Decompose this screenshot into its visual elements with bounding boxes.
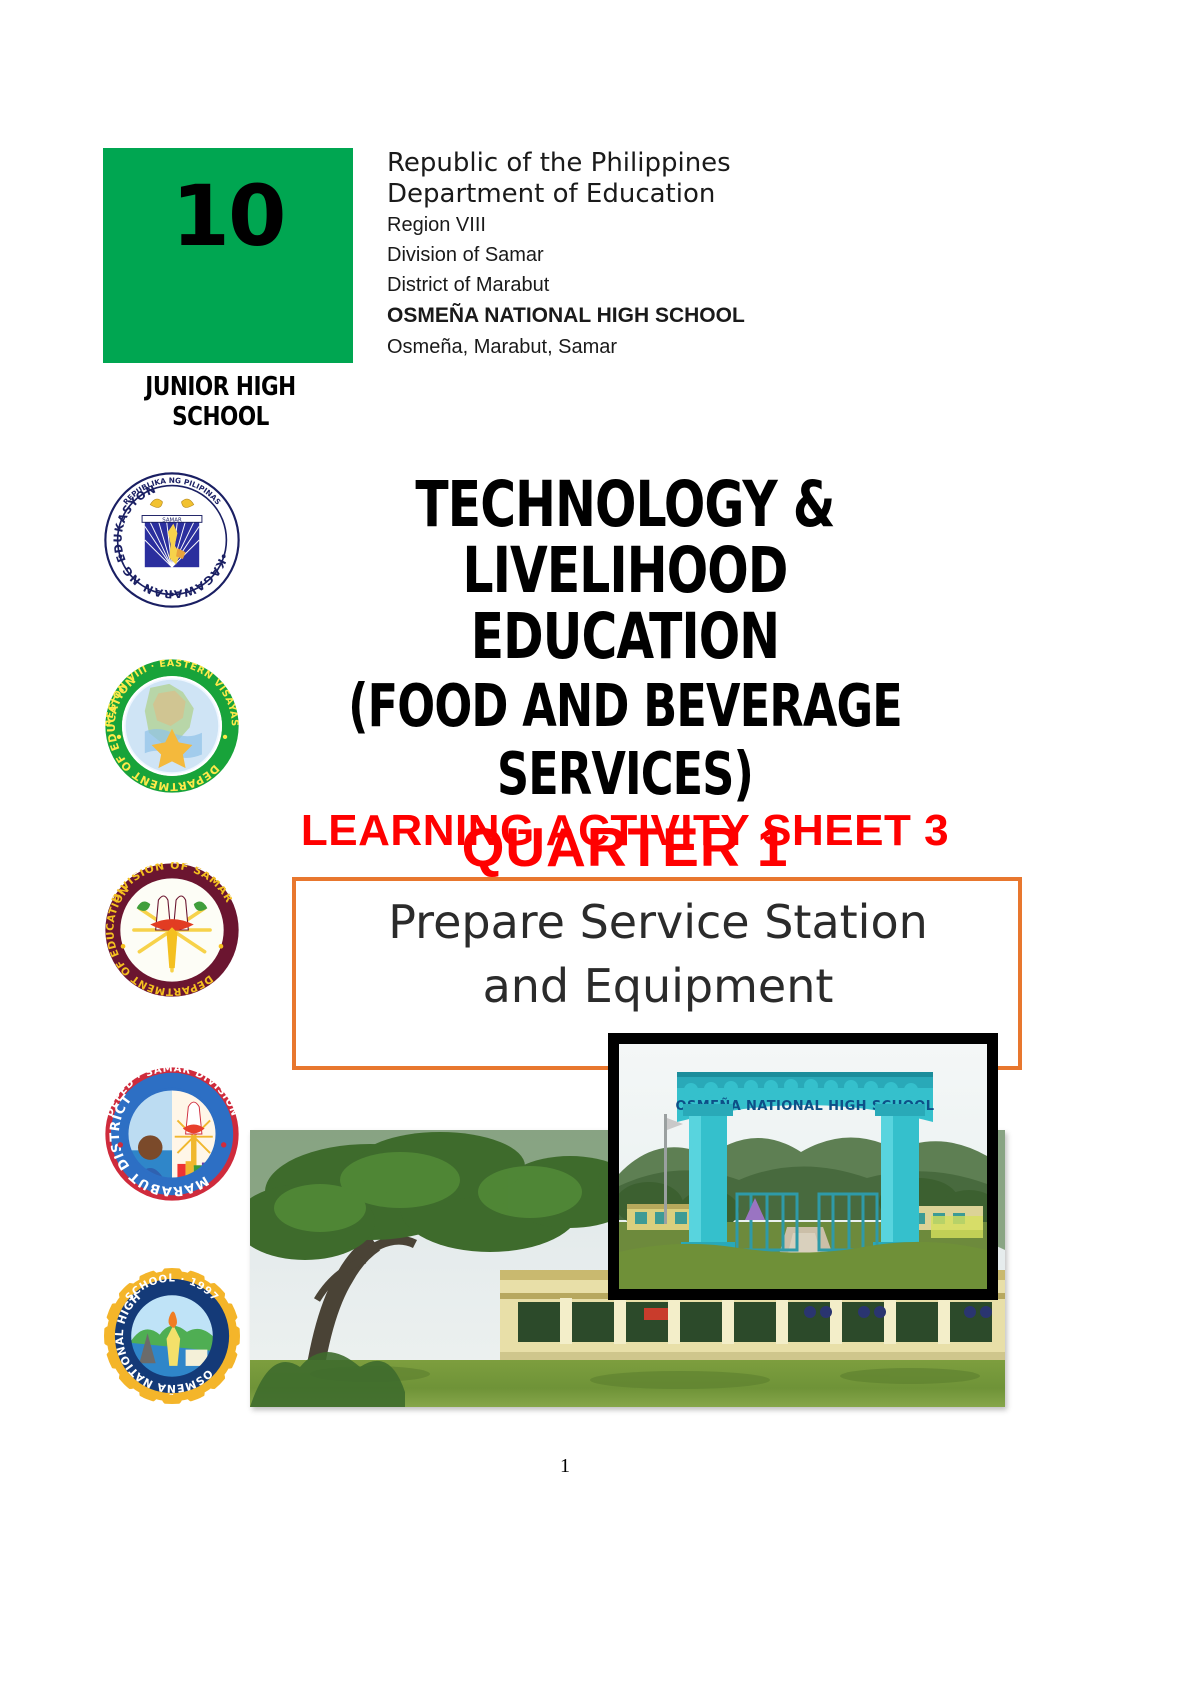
marabut-district-seal-icon: MARABUT DISTRICT DEPED · SAMAR DIVISION <box>104 1066 240 1202</box>
header-school-name: OSMEÑA NATIONAL HIGH SCHOOL <box>387 300 1007 332</box>
learning-activity-sheet-label: LEARNING ACTIVITY SHEET 3 <box>215 806 1035 856</box>
school-header: Republic of the Philippines Department o… <box>387 148 1007 362</box>
header-division: Division of Samar <box>387 240 1007 270</box>
title-line-3: (FOOD AND BEVERAGE SERVICES) <box>289 672 961 808</box>
deped-seal-icon: KAGAWARAN NG EDUKASYON REPUBLIKA NG PILI… <box>104 472 240 608</box>
subject-box-text: Prepare Service Station and Equipment <box>300 890 1016 1018</box>
title-line-1: TECHNOLOGY & LIVELIHOOD <box>281 472 969 604</box>
region-viii-seal-icon: DEPARTMENT OF EDUCATION REGION VIII · EA… <box>104 658 240 794</box>
subject-line-1: Prepare Service Station <box>300 890 1016 954</box>
header-school-address: Osmeña, Marabut, Samar <box>387 332 1007 362</box>
svg-text:SAMAR: SAMAR <box>162 517 182 523</box>
subject-line-2: and Equipment <box>300 954 1016 1018</box>
document-page: 10 JUNIOR HIGH SCHOOL Republic of the Ph… <box>0 0 1200 1694</box>
grade-badge: 10 <box>103 148 353 363</box>
division-of-samar-seal-icon: DEPARTMENT OF EDUCATION DIVISION OF SAMA… <box>104 862 240 998</box>
header-region: Region VIII <box>387 210 1007 240</box>
school-gate-photo: OSMEÑA NATIONAL HIGH SCHOOL <box>608 1033 998 1300</box>
junior-high-school-label: JUNIOR HIGH SCHOOL <box>100 372 341 432</box>
header-department: Department of Education <box>387 178 1007 210</box>
title-line-2: EDUCATION <box>281 604 969 670</box>
osmena-nhs-seal-icon: OSMEÑA NATIONAL HIGH SCHOOL · 1997 <box>104 1268 240 1404</box>
grade-number: 10 <box>172 174 285 258</box>
header-republic: Republic of the Philippines <box>387 148 1007 178</box>
header-district: District of Marabut <box>387 270 1007 300</box>
page-number: 1 <box>0 1455 1130 1478</box>
